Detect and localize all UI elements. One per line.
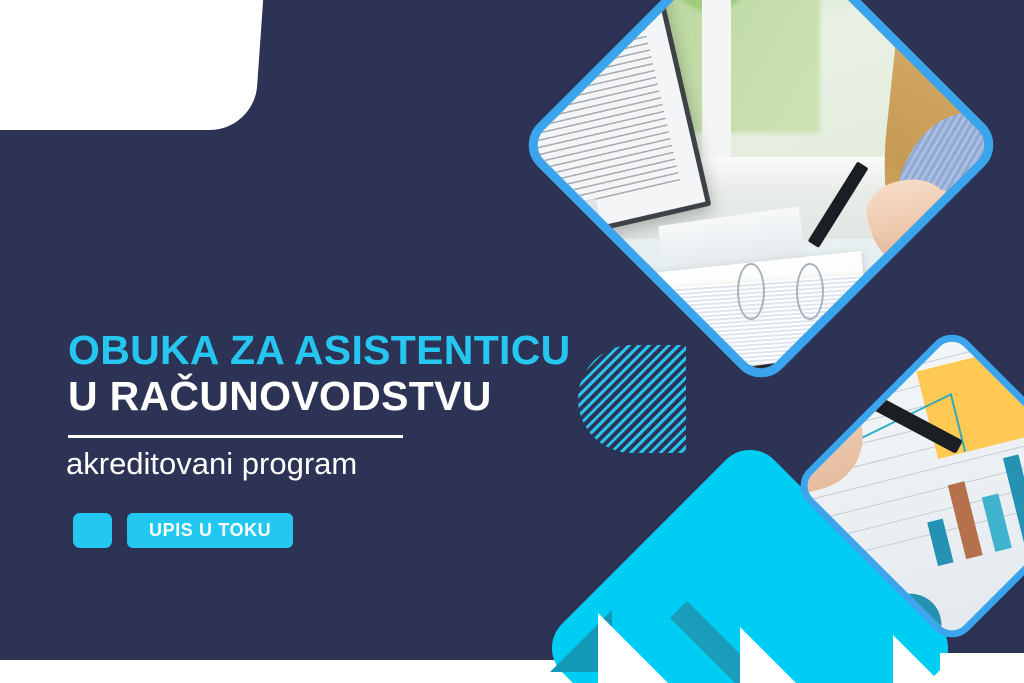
binder-ring [796, 263, 824, 320]
enrollment-cta-button[interactable]: UPIS U TOKU [127, 513, 293, 548]
document-on-screen [516, 0, 681, 220]
headline-block: OBUKA ZA ASISTENTICU U RAČUNOVODSTVU [68, 328, 571, 420]
white-wedge [740, 627, 796, 683]
headline-line-2: U RAČUNOVODSTVU [68, 374, 571, 420]
promotional-banner: 25 NAHLA ČINIMO ZNANJE DOSTUPNIM Švicars… [0, 0, 1024, 683]
striped-half-circle-decoration [578, 345, 686, 453]
white-wedge [893, 635, 941, 683]
photo-main-inner [597, 0, 925, 309]
headline-divider [68, 435, 403, 438]
logo-panel-background [0, 0, 266, 130]
binder-ring [737, 263, 765, 320]
photo-main-accounting-desk [516, 0, 1005, 390]
bar [982, 493, 1012, 552]
bar [948, 481, 983, 558]
cta-accent-square [73, 513, 112, 548]
white-wedge [598, 613, 668, 683]
calculator-keys [747, 364, 883, 390]
headline-line-1: OBUKA ZA ASISTENTICU [68, 328, 571, 374]
scene-office-desk [516, 0, 1005, 390]
subtitle-text: akreditovani program [66, 446, 357, 482]
photo-secondary-inner [845, 379, 1024, 593]
white-corner-fill [940, 653, 1024, 683]
monitor-stand [544, 199, 605, 251]
bar [927, 519, 954, 566]
eyeglasses [569, 297, 661, 351]
